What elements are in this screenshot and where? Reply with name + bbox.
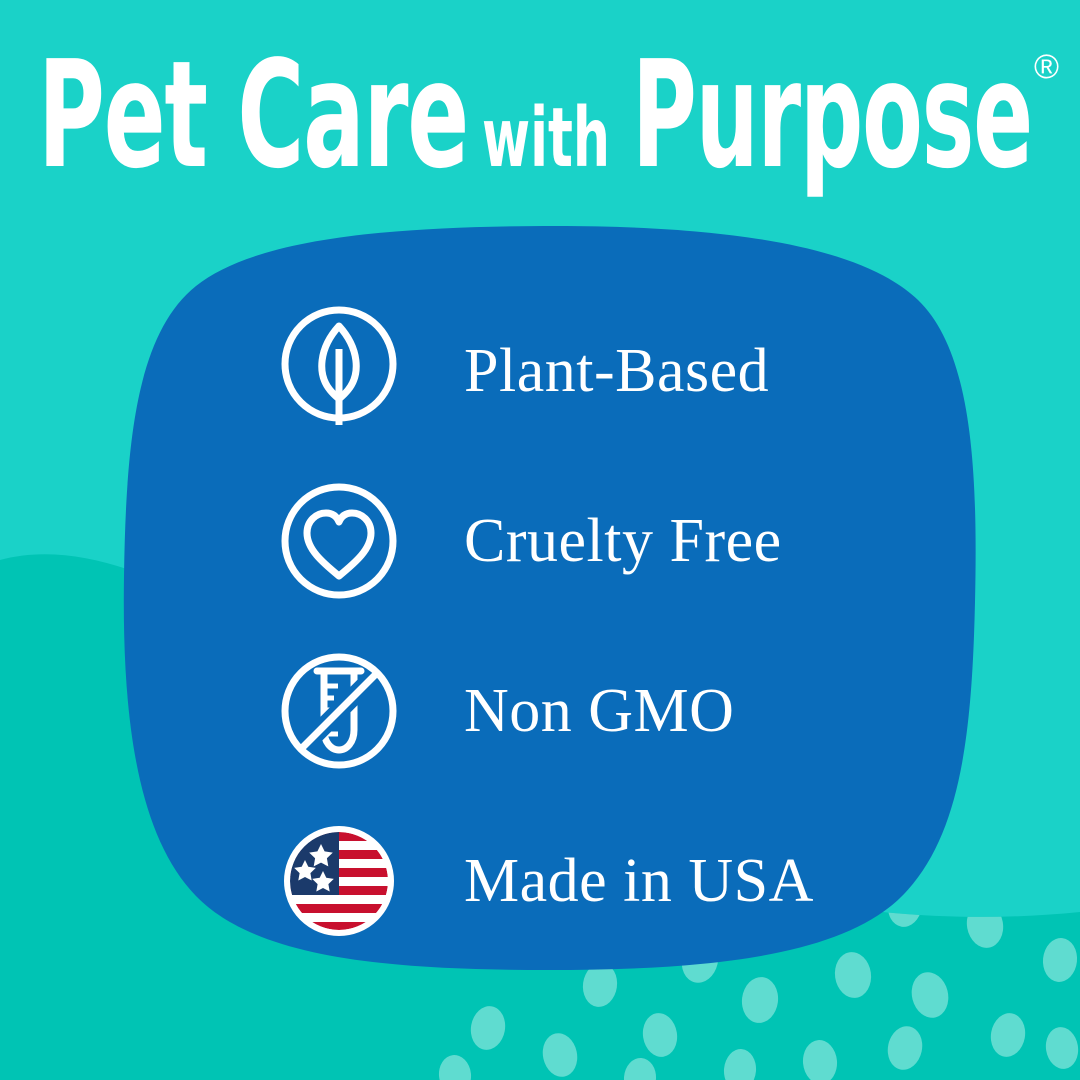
- promo-graphic: Pet Care with Purpose ® Plant-Based: [0, 0, 1080, 1080]
- feature-item-cruelty-free: Cruelty Free: [272, 456, 912, 626]
- heart-in-circle-icon: [272, 474, 406, 608]
- feature-label-plant-based: Plant-Based: [464, 340, 769, 402]
- feature-label-made-in-usa: Made in USA: [464, 850, 814, 912]
- feature-list: Plant-Based Cruelty Free: [272, 286, 912, 966]
- feature-item-non-gmo: Non GMO: [272, 626, 912, 796]
- feature-item-plant-based: Plant-Based: [272, 286, 912, 456]
- feature-label-non-gmo: Non GMO: [464, 680, 734, 742]
- no-test-tube-icon: [272, 644, 406, 778]
- usa-flag-circle-icon: [272, 814, 406, 948]
- leaf-in-circle-icon: [272, 304, 406, 438]
- feature-item-made-in-usa: Made in USA: [272, 796, 912, 966]
- feature-label-cruelty-free: Cruelty Free: [464, 510, 782, 572]
